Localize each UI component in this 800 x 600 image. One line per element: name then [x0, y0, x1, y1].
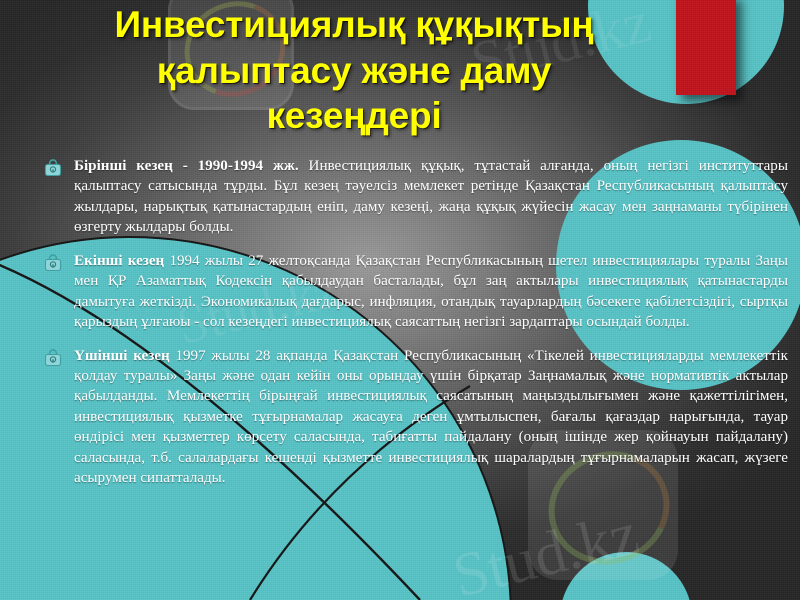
lock-bullet-icon — [44, 159, 62, 177]
slide-body: Бірінші кезең - 1990-1994 жж. Инвестиция… — [44, 156, 788, 502]
decorative-circle-bottom-right — [560, 552, 692, 600]
paragraph-body: 1997 жылы 28 ақпанда Қазақстан Республик… — [74, 348, 788, 487]
paragraph-body: 1994 жылы 27 желтоқсанда Қазақстан Респу… — [74, 253, 788, 330]
paragraph-lead: Үшінші кезең — [74, 348, 170, 364]
presentation-slide: Stud.kz Stud.kz Stud.kz Инвестициялық құ… — [0, 0, 800, 600]
paragraph-row: Бірінші кезең - 1990-1994 жж. Инвестиция… — [44, 156, 788, 238]
slide-title-line-1: Инвестициялық құқықтың — [54, 2, 654, 48]
red-accent-block — [676, 0, 736, 95]
paragraph-lead: Бірінші кезең - 1990-1994 жж. — [74, 158, 299, 174]
lock-bullet-icon — [44, 349, 62, 367]
paragraph-lead: Екінші кезең — [74, 253, 164, 269]
paragraph-text: Бірінші кезең - 1990-1994 жж. Инвестиция… — [74, 156, 788, 238]
paragraph-text: Үшінші кезең 1997 жылы 28 ақпанда Қазақс… — [74, 346, 788, 489]
paragraph-row: Үшінші кезең 1997 жылы 28 ақпанда Қазақс… — [44, 346, 788, 489]
slide-title-line-2: қалыптасу және даму — [54, 48, 654, 94]
paragraph-row: Екінші кезең 1994 жылы 27 желтоқсанда Қа… — [44, 251, 788, 333]
slide-title: Инвестициялық құқықтыңқалыптасу және дам… — [54, 2, 654, 139]
paragraph-text: Екінші кезең 1994 жылы 27 желтоқсанда Қа… — [74, 251, 788, 333]
slide-title-line-3: кезеңдері — [54, 93, 654, 139]
lock-bullet-icon — [44, 254, 62, 272]
